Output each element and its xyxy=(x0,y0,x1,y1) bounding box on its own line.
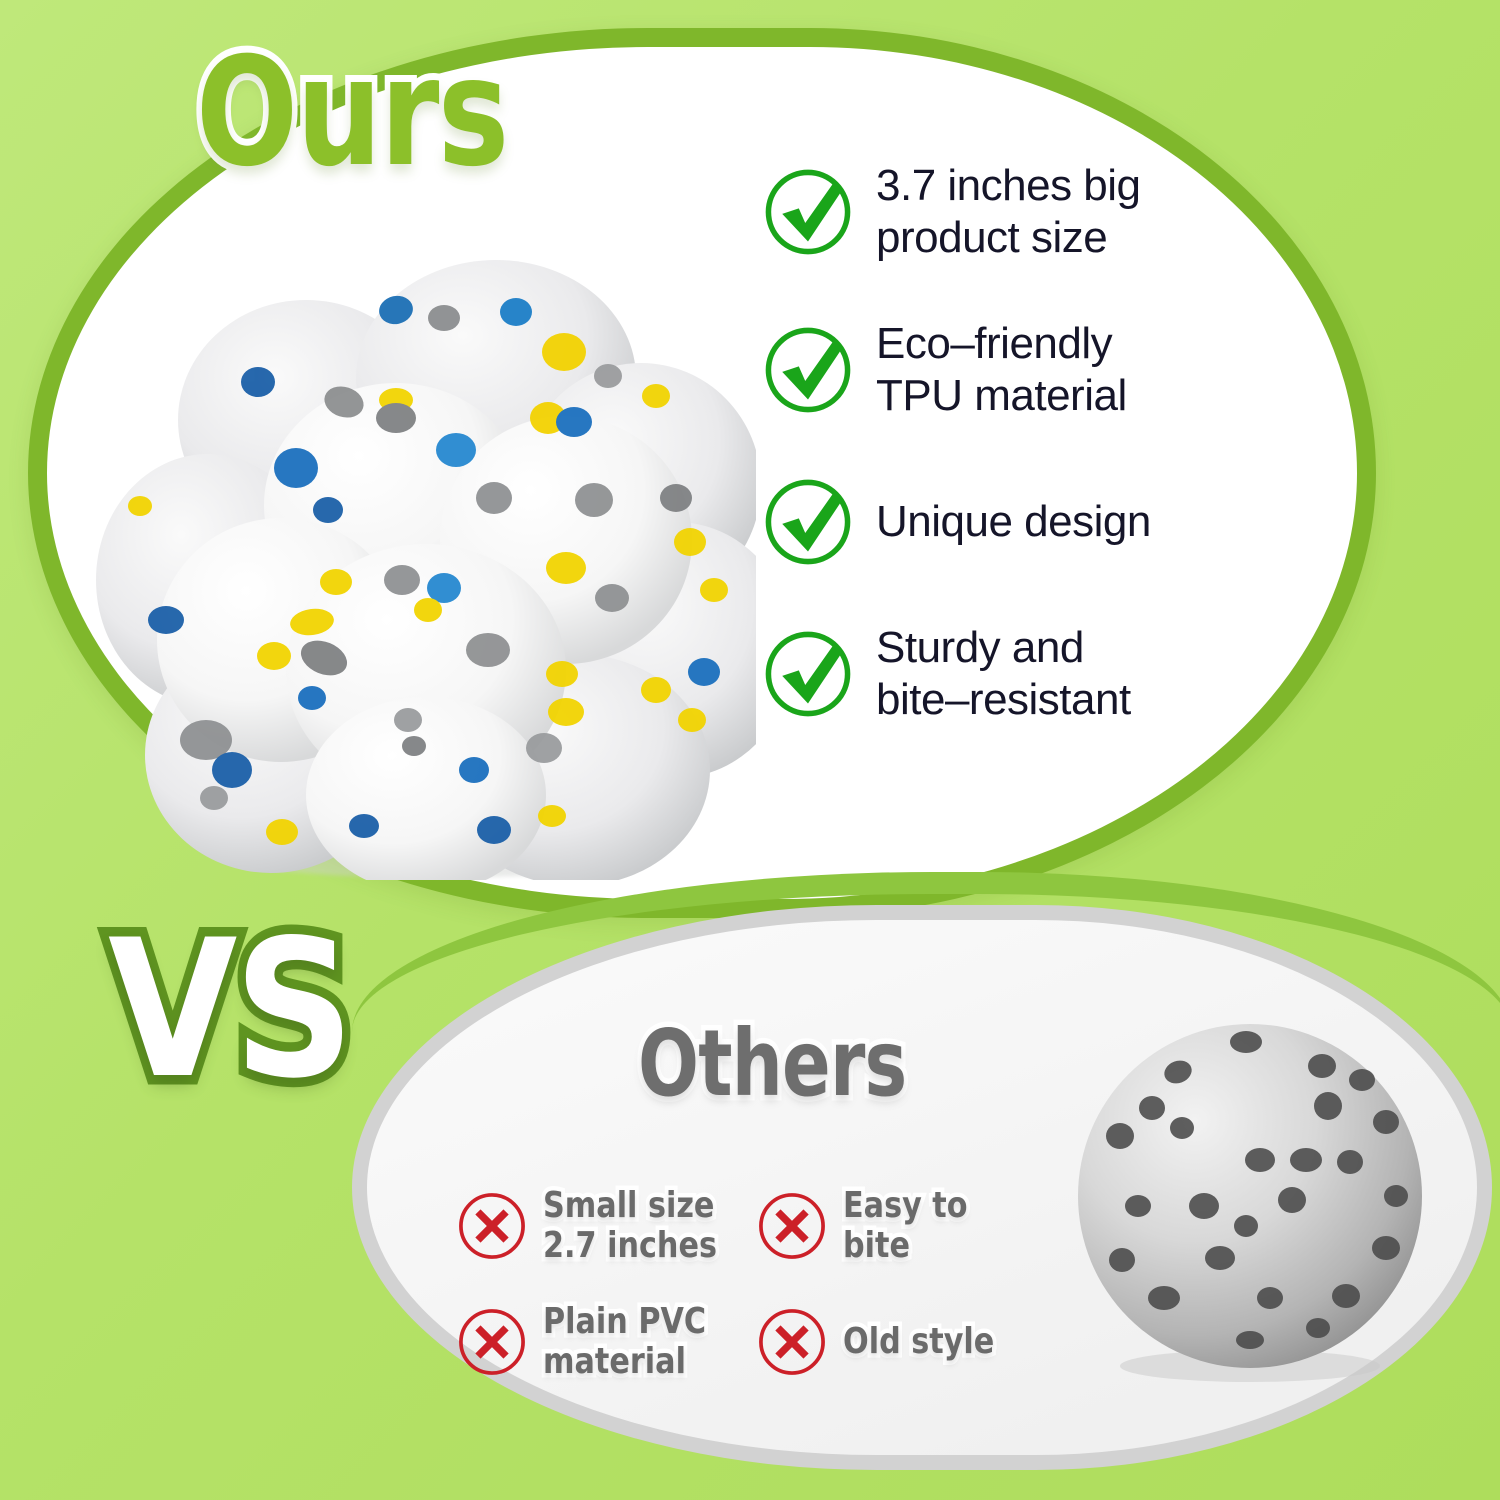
drawback-label: Small size 2.7 inches xyxy=(543,1186,717,1266)
x-circle-icon xyxy=(755,1189,829,1263)
ours-title: Ours xyxy=(196,38,508,188)
others-product-ball-image xyxy=(1060,1010,1440,1390)
ours-product-ball-image xyxy=(96,250,756,880)
feature-label: Eco–friendly TPU material xyxy=(876,318,1127,422)
others-title: Others xyxy=(638,1018,906,1110)
drawback-row: Easy to bite xyxy=(755,1168,1065,1284)
vs-label: VS xyxy=(108,915,351,1105)
feature-row: 3.7 inches big product size xyxy=(762,160,1242,264)
ours-feature-list: 3.7 inches big product size Eco–friendly… xyxy=(762,160,1242,780)
feature-label: 3.7 inches big product size xyxy=(876,160,1141,264)
drawback-row: Small size 2.7 inches xyxy=(455,1168,755,1284)
check-circle-icon xyxy=(762,324,854,416)
feature-row: Sturdy and bite–resistant xyxy=(762,622,1242,726)
infographic-canvas: Ours 3.7 inches big product size Eco–fri… xyxy=(0,0,1500,1500)
check-circle-icon xyxy=(762,476,854,568)
feature-label: Unique design xyxy=(876,496,1151,548)
x-circle-icon xyxy=(455,1305,529,1379)
drawback-label: Plain PVC material xyxy=(543,1302,706,1382)
drawback-row: Old style xyxy=(755,1284,1065,1400)
drawback-label: Easy to bite xyxy=(843,1186,1029,1266)
feature-row: Unique design xyxy=(762,476,1242,568)
drawback-label: Old style xyxy=(843,1322,994,1362)
x-circle-icon xyxy=(455,1189,529,1263)
check-circle-icon xyxy=(762,166,854,258)
drawback-row: Plain PVC material xyxy=(455,1284,755,1400)
x-circle-icon xyxy=(755,1305,829,1379)
check-circle-icon xyxy=(762,628,854,720)
feature-row: Eco–friendly TPU material xyxy=(762,318,1242,422)
others-drawback-list: Small size 2.7 inches Easy to bite Plain… xyxy=(455,1168,1065,1400)
feature-label: Sturdy and bite–resistant xyxy=(876,622,1131,726)
